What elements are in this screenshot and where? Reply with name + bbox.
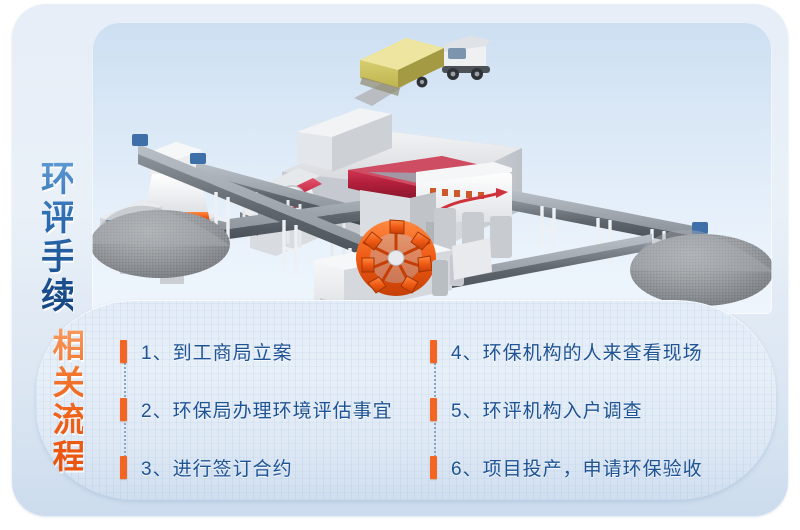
- illustration-panel: [92, 22, 772, 314]
- step-marker-icon: [120, 398, 127, 421]
- step-marker-icon: [430, 340, 437, 363]
- screenshot-root: 环评手续 相关流程 1、到工商局立案 2、环保局办理环境评估事宜 3、进行签订合…: [0, 0, 800, 530]
- list-item[interactable]: 2、环保局办理环境评估事宜: [120, 380, 430, 438]
- list-item[interactable]: 6、项目投产，申请环保验收: [430, 438, 740, 496]
- step-marker-icon: [430, 456, 437, 479]
- list-item[interactable]: 5、环评机构入户调查: [430, 380, 740, 438]
- dump-truck: [354, 36, 490, 106]
- section-title-eia: 环评手续: [38, 160, 73, 316]
- step-marker-icon: [120, 340, 127, 363]
- step-marker-icon: [430, 398, 437, 421]
- section-title-process: 相关流程: [50, 328, 83, 476]
- step-label: 3、进行签订合约: [141, 454, 293, 481]
- production-line-illustration: [92, 22, 772, 314]
- list-item[interactable]: 1、到工商局立案: [120, 322, 430, 380]
- aggregate-pile-right: [630, 230, 772, 306]
- step-column-left: 1、到工商局立案 2、环保局办理环境评估事宜 3、进行签订合约: [120, 322, 430, 496]
- step-label: 5、环评机构入户调查: [451, 396, 643, 423]
- step-column-right: 4、环保机构的人来查看现场 5、环评机构入户调查 6、项目投产，申请环保验收: [430, 322, 740, 496]
- step-label: 2、环保局办理环境评估事宜: [141, 396, 393, 423]
- step-marker-icon: [120, 456, 127, 479]
- list-item[interactable]: 3、进行签订合约: [120, 438, 430, 496]
- step-label: 6、项目投产，申请环保验收: [451, 454, 703, 481]
- step-label: 4、环保机构的人来查看现场: [451, 338, 703, 365]
- step-label: 1、到工商局立案: [141, 338, 293, 365]
- list-item[interactable]: 4、环保机构的人来查看现场: [430, 322, 740, 380]
